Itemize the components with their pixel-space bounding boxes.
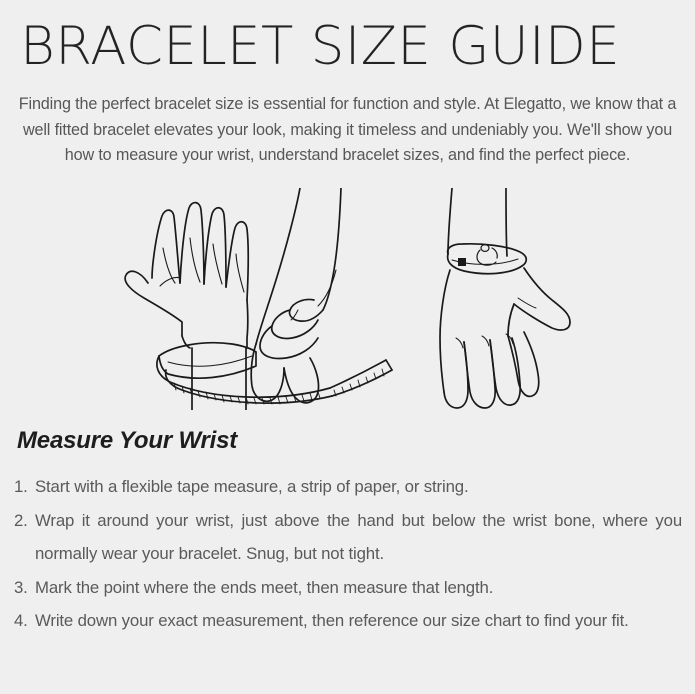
tape-end-cap [386, 360, 392, 370]
page-title: BRACELET SIZE GUIDE [20, 18, 683, 76]
finger-crease-pinky [236, 254, 244, 292]
tape-band-bottom [159, 352, 256, 378]
hand-with-bracelet-panel [440, 188, 570, 408]
step-text: Wrap it around your wrist, just above th… [35, 504, 682, 571]
section-heading-measure-your-wrist: Measure Your Wrist [17, 427, 237, 455]
forearm-right-edge-3 [506, 188, 507, 256]
step-text: Mark the point where the ends meet, then… [35, 571, 682, 605]
list-item: 4. Write down your exact measurement, th… [14, 604, 682, 638]
list-item: 3. Mark the point where the ends meet, t… [14, 571, 682, 605]
tape-strip-lower [166, 370, 332, 403]
intro-paragraph: Finding the perfect bracelet size is ess… [14, 92, 681, 169]
hand-right-edge-3 [508, 304, 514, 336]
size-guide-page: BRACELET SIZE GUIDE Finding the perfect … [0, 0, 695, 694]
step-number: 1. [14, 470, 35, 504]
tape-band-inner [168, 356, 252, 366]
thumb-3 [514, 268, 570, 330]
finger-crease-ring [213, 244, 222, 284]
step-text: Start with a flexible tape measure, a st… [35, 470, 682, 504]
list-item: 1. Start with a flexible tape measure, a… [14, 470, 682, 504]
clasp-black-segment [458, 258, 466, 266]
forearm-left-edge-3 [448, 188, 452, 254]
hand-holding-tape-panel [251, 188, 392, 403]
finger-crease-middle [190, 238, 200, 282]
forearm-left-edge-2 [256, 188, 300, 344]
step-text: Write down your exact measurement, then … [35, 604, 682, 638]
forearm-right-edge-2 [323, 188, 341, 310]
thumb-crease-3 [518, 298, 536, 308]
clasp-hook [477, 250, 496, 265]
curled-index-finger [289, 299, 323, 321]
ring-finger [204, 208, 226, 287]
curled-middle-finger [272, 310, 318, 338]
clasp-loop [492, 248, 497, 258]
palm-crease-1 [160, 277, 180, 286]
open-palm-panel [125, 203, 332, 410]
hands-illustration [100, 188, 600, 410]
hand-outer-edge [247, 300, 248, 348]
step-number: 3. [14, 571, 35, 605]
tape-band-top [159, 343, 256, 356]
step-number: 2. [14, 504, 35, 538]
index-finger [152, 210, 180, 283]
tape-strip-upper-2 [330, 360, 386, 388]
hand-left-edge-3 [440, 270, 450, 392]
knuckle-crease-b [482, 336, 489, 346]
measure-steps-list: 1. Start with a flexible tape measure, a… [14, 470, 682, 638]
clasp-bead [481, 245, 489, 252]
list-item: 2. Wrap it around your wrist, just above… [14, 504, 682, 571]
middle-finger [180, 203, 204, 284]
step-number: 4. [14, 604, 35, 638]
knuckle-crease-a [456, 338, 463, 348]
